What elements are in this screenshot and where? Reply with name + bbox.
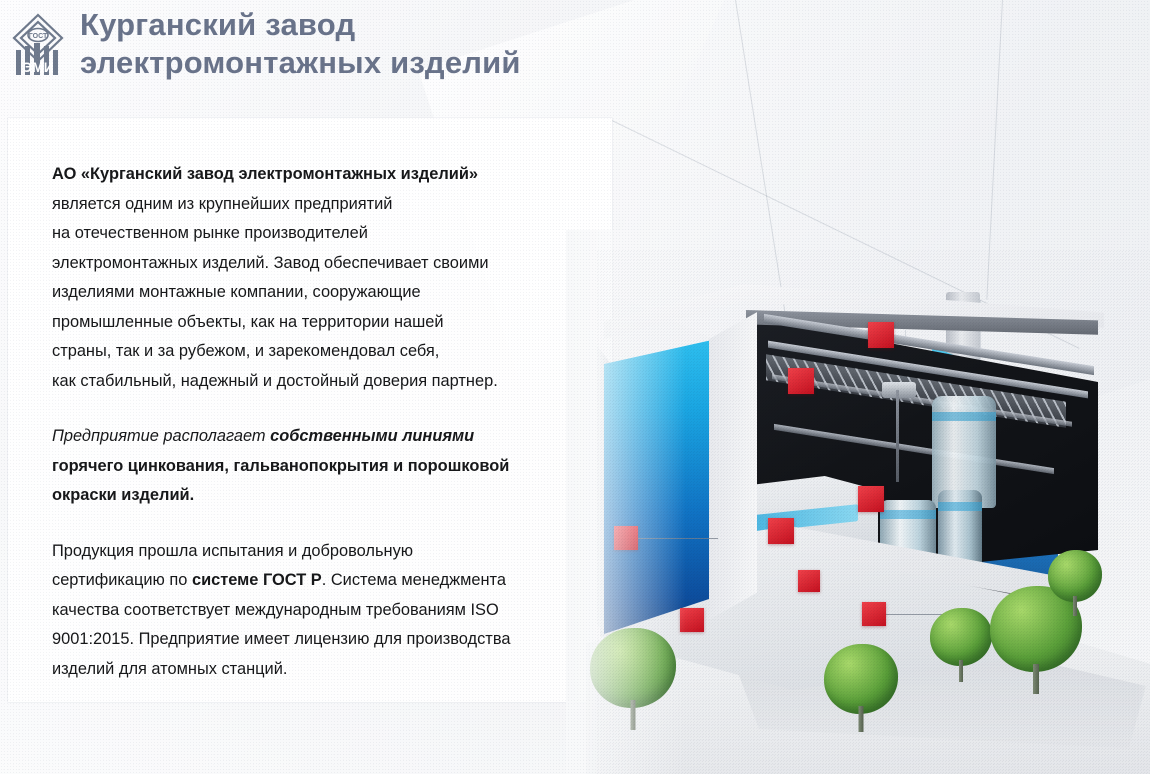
slide-root: ГОСТ ЭМИ Курганский завод электромонтажн… (0, 0, 1150, 774)
page-grain-overlay (0, 0, 1150, 774)
